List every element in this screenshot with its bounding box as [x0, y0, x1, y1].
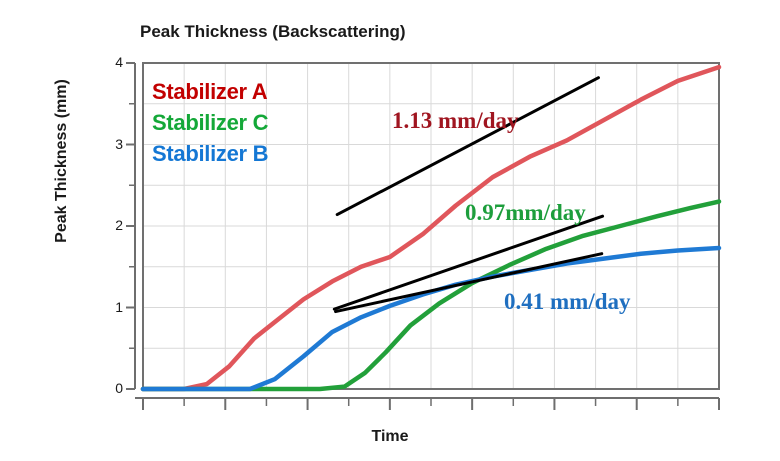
y-tick-label: 0	[101, 380, 123, 396]
chart-container: Peak Thickness (Backscattering) Peak Thi…	[0, 0, 780, 461]
legend-item-stabilizer-c: Stabilizer C	[152, 110, 268, 136]
y-tick-label: 2	[101, 217, 123, 233]
slope-label-b: 0.41 mm/day	[504, 289, 631, 315]
slope-label-c: 0.97mm/day	[465, 200, 586, 226]
slope-label-a: 1.13 mm/day	[392, 108, 519, 134]
y-tick-label: 4	[101, 54, 123, 70]
legend-item-stabilizer-b: Stabilizer B	[152, 141, 268, 167]
legend-item-stabilizer-a: Stabilizer A	[152, 79, 267, 105]
y-tick-label: 1	[101, 299, 123, 315]
y-tick-label: 3	[101, 136, 123, 152]
